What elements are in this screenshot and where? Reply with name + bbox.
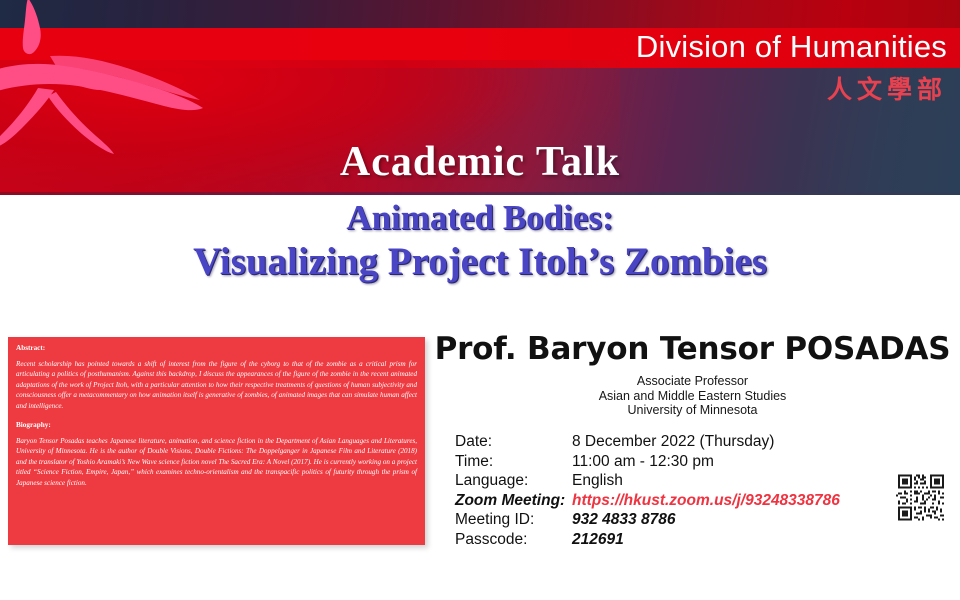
event-type-heading: Academic Talk bbox=[0, 138, 960, 186]
detail-label-meeting-id: Meeting ID: bbox=[455, 510, 572, 530]
biography-heading: Biography: bbox=[16, 420, 417, 430]
detail-row-language: Language: English bbox=[455, 471, 895, 491]
detail-row-passcode: Passcode: 212691 bbox=[455, 530, 895, 550]
talk-title-line-1: Animated Bodies: bbox=[0, 196, 960, 240]
detail-row-zoom-meeting[interactable]: Zoom Meeting: https://hkust.zoom.us/j/93… bbox=[455, 491, 895, 511]
speaker-affiliation: Associate Professor Asian and Middle Eas… bbox=[430, 374, 955, 418]
division-name-chinese: 人文學部 bbox=[0, 73, 947, 107]
detail-value-language: English bbox=[572, 471, 623, 491]
academic-talk-poster: Division of Humanities 人文學部 Academic Tal… bbox=[0, 0, 960, 600]
speaker-name: Prof. Baryon Tensor POSADAS bbox=[430, 330, 955, 368]
biography-text: Baryon Tensor Posadas teaches Japanese l… bbox=[16, 436, 417, 488]
detail-row-meeting-id: Meeting ID: 932 4833 8786 bbox=[455, 510, 895, 530]
detail-label-date: Date: bbox=[455, 432, 572, 452]
speaker-affiliation-line-2: Asian and Middle Eastern Studies bbox=[430, 389, 955, 404]
speaker-affiliation-line-1: Associate Professor bbox=[430, 374, 955, 389]
detail-value-date: 8 December 2022 (Thursday) bbox=[572, 432, 774, 452]
qr-code-icon[interactable] bbox=[896, 470, 946, 525]
detail-value-time: 11:00 am - 12:30 pm bbox=[572, 452, 714, 472]
detail-label-passcode: Passcode: bbox=[455, 530, 572, 550]
talk-title-line-2: Visualizing Project Itoh’s Zombies bbox=[0, 240, 960, 284]
abstract-text: Recent scholarship has pointed towards a… bbox=[16, 359, 417, 411]
banner-bottom-divider bbox=[0, 192, 960, 195]
speaker-affiliation-line-3: University of Minnesota bbox=[430, 403, 955, 418]
detail-label-zoom-meeting: Zoom Meeting: bbox=[455, 491, 572, 511]
detail-value-meeting-id: 932 4833 8786 bbox=[572, 510, 675, 530]
abstract-heading: Abstract: bbox=[16, 343, 417, 353]
poster-banner: Division of Humanities 人文學部 Academic Tal… bbox=[0, 0, 960, 195]
detail-row-date: Date: 8 December 2022 (Thursday) bbox=[455, 432, 895, 452]
talk-title: Animated Bodies: Visualizing Project Ito… bbox=[0, 196, 960, 284]
detail-label-time: Time: bbox=[455, 452, 572, 472]
division-name-english: Division of Humanities bbox=[0, 26, 947, 68]
event-details-list: Date: 8 December 2022 (Thursday) Time: 1… bbox=[455, 432, 895, 549]
zoom-meeting-link[interactable]: https://hkust.zoom.us/j/93248338786 bbox=[572, 491, 840, 511]
detail-label-language: Language: bbox=[455, 471, 572, 491]
abstract-biography-box: Abstract: Recent scholarship has pointed… bbox=[8, 337, 425, 545]
detail-value-passcode: 212691 bbox=[572, 530, 624, 550]
detail-row-time: Time: 11:00 am - 12:30 pm bbox=[455, 452, 895, 472]
